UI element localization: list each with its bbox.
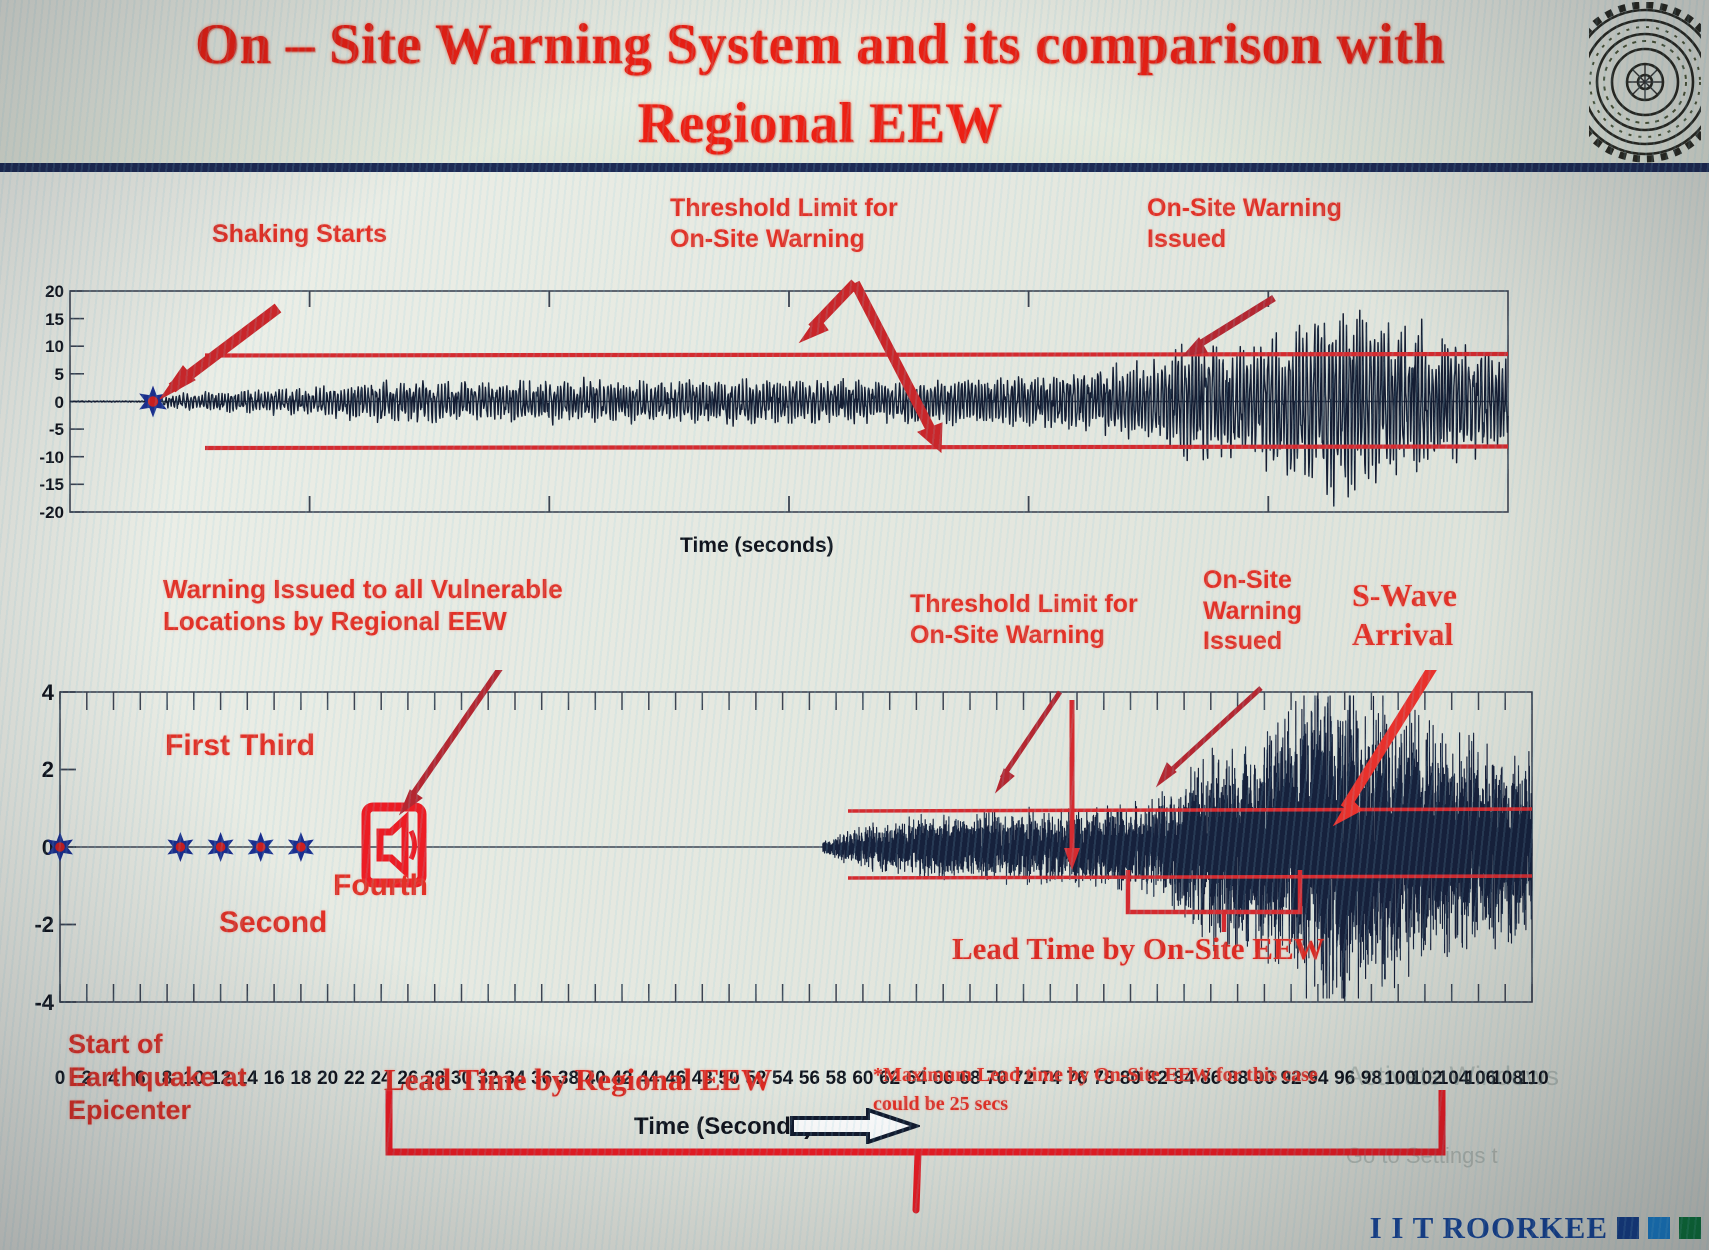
iit-roorkee-footer-badge: I I T ROORKEE	[1370, 1210, 1701, 1246]
iit-roorkee-emblem-icon	[1589, 2, 1701, 167]
top-chart-xlabel: Time (seconds)	[680, 534, 834, 558]
swatch-3	[1679, 1217, 1701, 1239]
svg-text:-5: -5	[49, 420, 64, 439]
annotation-lead-time-onsite: Lead Time by On-Site EEW	[952, 930, 1325, 968]
xtick-label: 56	[795, 1068, 823, 1090]
swatch-1	[1617, 1217, 1639, 1239]
annotation-top-threshold-limit: Threshold Limit for On-Site Warning	[670, 193, 898, 254]
svg-text:0: 0	[42, 835, 54, 860]
annotation-second: Second	[219, 905, 327, 942]
svg-text:20: 20	[45, 282, 64, 301]
svg-text:15: 15	[45, 310, 64, 329]
svg-text:0: 0	[55, 393, 64, 412]
annotation-start-of-earthquake: Start of Earthquake at Epicenter	[68, 1028, 247, 1127]
annotation-lead-time-regional: Lead Time by Regional EEW	[384, 1061, 772, 1099]
annotation-shaking-starts: Shaking Starts	[212, 219, 387, 250]
xtick-label: 18	[287, 1068, 315, 1090]
svg-text:-4: -4	[34, 990, 54, 1015]
annotation-bottom-onsite-warning-issued: On-Site Warning Issued	[1203, 565, 1302, 657]
svg-text:5: 5	[55, 365, 64, 384]
svg-text:10: 10	[45, 337, 64, 356]
xtick-label: 16	[260, 1068, 288, 1090]
xtick-label: 54	[769, 1068, 797, 1090]
annotation-first: First	[165, 728, 230, 765]
swatch-2	[1648, 1217, 1670, 1239]
xtick-label: 20	[314, 1068, 342, 1090]
annotation-bottom-threshold-limit: Threshold Limit for On-Site Warning	[910, 589, 1138, 650]
annotation-fourth: Fourth	[333, 868, 428, 905]
annotation-top-warning-issued: On-Site Warning Issued	[1147, 193, 1342, 254]
annotation-third: Third	[240, 728, 315, 765]
svg-text:-2: -2	[34, 912, 54, 937]
slide-header: On – Site Warning System and its compari…	[0, 0, 1709, 172]
annotation-s-wave-arrival: S-Wave Arrival	[1352, 576, 1457, 654]
annotation-regional-warning-issued: Warning Issued to all Vulnerable Locatio…	[163, 574, 563, 637]
svg-text:-20: -20	[39, 503, 64, 522]
xtick-label: 58	[822, 1068, 850, 1090]
slide-canvas: On – Site Warning System and its compari…	[0, 0, 1709, 1250]
svg-text:-10: -10	[39, 448, 64, 467]
svg-text:4: 4	[42, 680, 55, 705]
svg-text:2: 2	[42, 757, 54, 782]
xtick-label: 22	[340, 1068, 368, 1090]
page-title: On – Site Warning System and its compari…	[120, 6, 1520, 163]
svg-text:-15: -15	[39, 475, 64, 494]
institute-name: I I T ROORKEE	[1370, 1210, 1608, 1246]
annotation-max-lead-note: *Maximum Lead time by On-Site EEW for th…	[873, 1061, 1318, 1119]
